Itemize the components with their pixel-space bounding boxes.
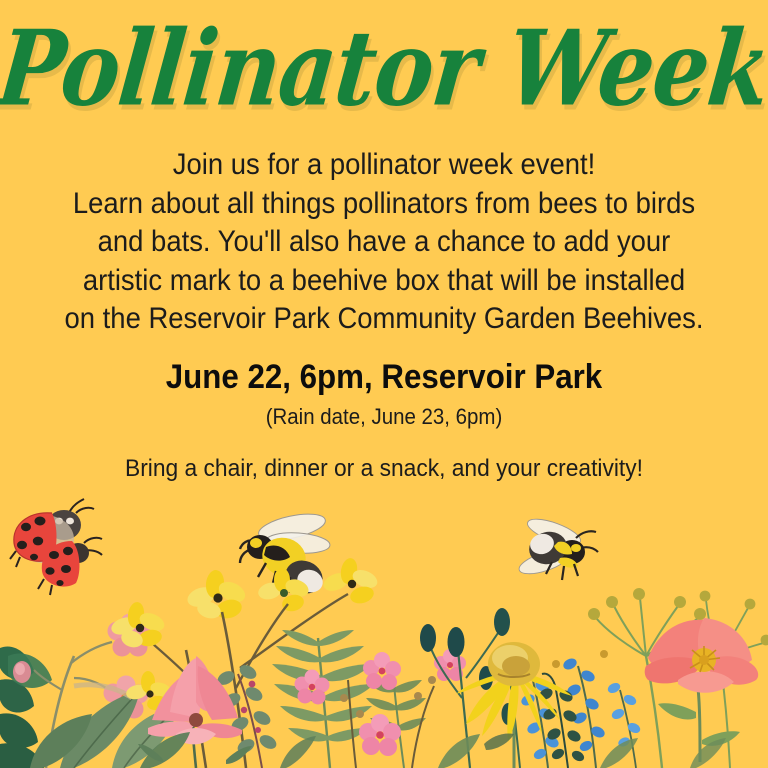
body-line-4: artistic mark to a beehive box that will… — [40, 262, 728, 301]
body-line-2: Learn about all things pollinators from … — [40, 185, 728, 224]
bring-note: Bring a chair, dinner or a snack, and yo… — [27, 455, 741, 483]
body-line-5: on the Reservoir Park Community Garden B… — [40, 300, 728, 339]
body-line-1: Join us for a pollinator week event! — [40, 146, 728, 185]
yellow-flower — [321, 557, 380, 606]
yellow-flower — [256, 568, 311, 613]
event-headline: June 22, 6pm, Reservoir Park — [31, 358, 738, 397]
title-container: Pollinator Week — [0, 8, 768, 128]
pink-flower — [363, 652, 401, 690]
body-line-3: and bats. You'll also have a chance to a… — [40, 223, 728, 262]
page-title: Pollinator Week — [0, 16, 768, 120]
body-paragraph: Join us for a pollinator week event! Lea… — [40, 146, 728, 339]
pink-flower — [359, 714, 401, 756]
yellow-flower — [185, 569, 249, 621]
botanical-border-illustration — [0, 538, 768, 768]
rain-date-note: (Rain date, June 23, 6pm) — [27, 404, 741, 430]
pollinator-week-flyer: Pollinator Week Join us for a pollinator… — [0, 0, 768, 768]
coral-poppy — [645, 618, 758, 762]
